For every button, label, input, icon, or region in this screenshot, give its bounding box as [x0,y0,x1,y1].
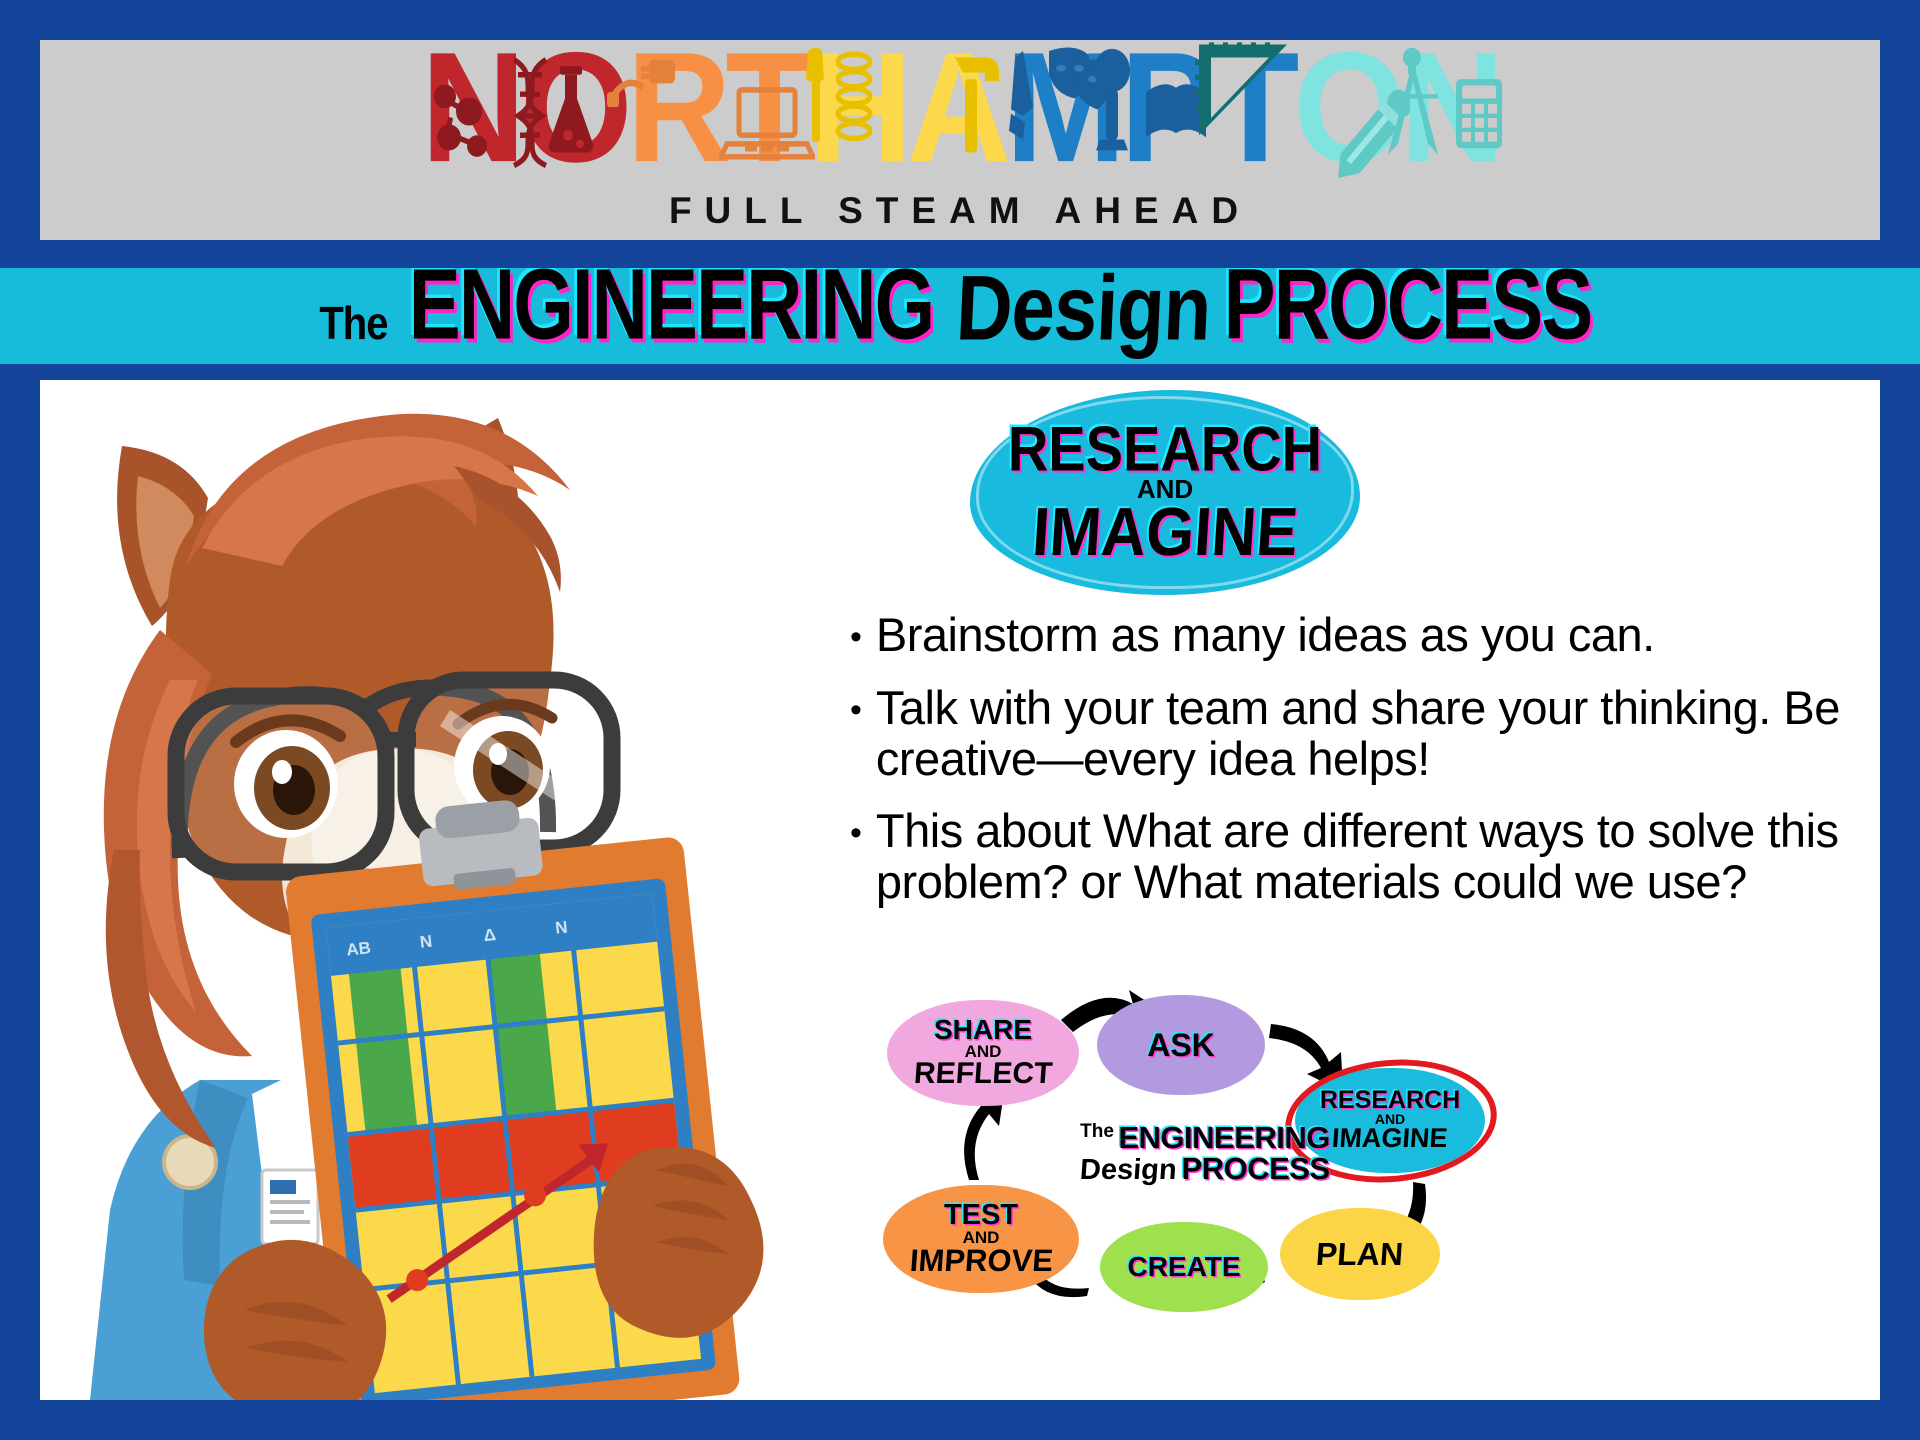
header-logo-bar: N O [40,40,1880,240]
wordmark-letter-N2: N [1400,29,1499,186]
wordmark-letter-text: T [1211,20,1294,195]
cycle-center-row-2: Design PROCESS [1055,1153,1355,1185]
cycle-center-engineering: ENGINEERING [1118,1120,1330,1155]
wordmark-letter-text: R [627,20,726,195]
cycle-node-line-1: PLAN [1315,1239,1404,1269]
cycle-node-line-2: REFLECT [913,1060,1053,1089]
wordmark-letter-text: P [1120,20,1211,195]
badge-line-2: IMAGINE [1006,501,1324,566]
cycle-node-line-1: ASK [1147,1030,1215,1060]
research-imagine-badge: RESEARCH AND IMAGINE [970,390,1360,595]
tagline: FULL STEAM AHEAD [40,190,1880,232]
svg-text:N: N [419,932,433,952]
wordmark-letter-text: T [725,20,808,195]
wordmark-letter-text: N [1400,20,1499,195]
svg-text:N: N [554,917,568,937]
badge-line-1: RESEARCH [1008,419,1322,479]
content-area: ABNΔN [40,380,1880,1400]
title-the: The [319,299,387,351]
wordmark-letter-T2: T [1211,29,1294,186]
wordmark-letter-text: A [907,20,1006,195]
bullet-dot-icon: • [850,693,862,727]
horse-scientist-mascot: ABNΔN [50,380,860,1400]
bullet-item-3: • This about What are different ways to … [850,806,1860,908]
cycle-node-line-2: IMPROVE [908,1246,1053,1275]
svg-text:AB: AB [345,938,371,959]
wordmark-letter-H: H [808,29,907,186]
cycle-node-line-1: SHARE [934,1017,1032,1044]
wordmark-letter-T1: T [725,29,808,186]
title-design: Design [954,268,1213,362]
poster-root: N O [0,0,1920,1440]
bullet-dot-icon: • [850,816,862,850]
cycle-center-process: PROCESS [1182,1151,1330,1186]
cycle-node-create[interactable]: CREATE [1100,1222,1268,1312]
wordmark-letter-A: A [907,29,1006,186]
engineering-design-process-cycle: SHARE AND REFLECT ASK RESEARCH AND IMAGI… [865,990,1865,1390]
wordmark-letter-P: P [1120,29,1211,186]
bullet-item-1: • Brainstorm as many ideas as you can. [850,610,1860,661]
cycle-node-line-1: CREATE [1127,1254,1240,1281]
cycle-node-share-reflect[interactable]: SHARE AND REFLECT [887,1000,1079,1106]
title-inner: The ENGINEERING Design PROCESS [319,269,1600,363]
title-engineering: ENGINEERING [409,268,933,363]
cycle-center-the: The [1080,1121,1114,1142]
wordmark-letter-O2: O [1293,29,1400,186]
svg-text:Δ: Δ [483,925,497,945]
bullet-text: This about What are different ways to so… [876,806,1860,908]
wordmark-letter-text: N [421,20,520,195]
wordmark-letter-M: M [1005,29,1120,186]
wordmark-letter-text: O [1293,20,1400,195]
cycle-center-label: The ENGINEERING Design PROCESS [1055,1122,1355,1185]
cycle-center-design: Design [1079,1156,1178,1185]
bullet-text: Talk with your team and share your think… [876,683,1860,785]
cycle-node-ask[interactable]: ASK [1097,995,1265,1095]
badge-text: RESEARCH AND IMAGINE [1008,422,1322,563]
wordmark-letter-text: M [1005,20,1120,195]
wordmark-letter-text: O [520,20,627,195]
wordmark-letter-text: H [808,20,907,195]
bullet-list: • Brainstorm as many ideas as you can. •… [850,610,1860,930]
cycle-node-test-improve[interactable]: TEST AND IMPROVE [883,1185,1079,1293]
bullet-item-2: • Talk with your team and share your thi… [850,683,1860,785]
cycle-node-line-1: TEST [944,1202,1018,1230]
title-banner: The ENGINEERING Design PROCESS [0,268,1920,364]
cycle-node-plan[interactable]: PLAN [1280,1208,1440,1300]
title-process: PROCESS [1223,268,1591,363]
wordmark-letter-N1: N [421,29,520,186]
cycle-center-row-1: The ENGINEERING [1055,1122,1355,1153]
northampton-wordmark: N O [40,46,1880,186]
wordmark-letter-O1: O [520,29,627,186]
bullet-dot-icon: • [850,620,862,654]
bullet-text: Brainstorm as many ideas as you can. [876,610,1655,661]
wordmark-letter-R: R [627,29,726,186]
right-column: RESEARCH AND IMAGINE • Brainstorm as man… [860,380,1880,1400]
